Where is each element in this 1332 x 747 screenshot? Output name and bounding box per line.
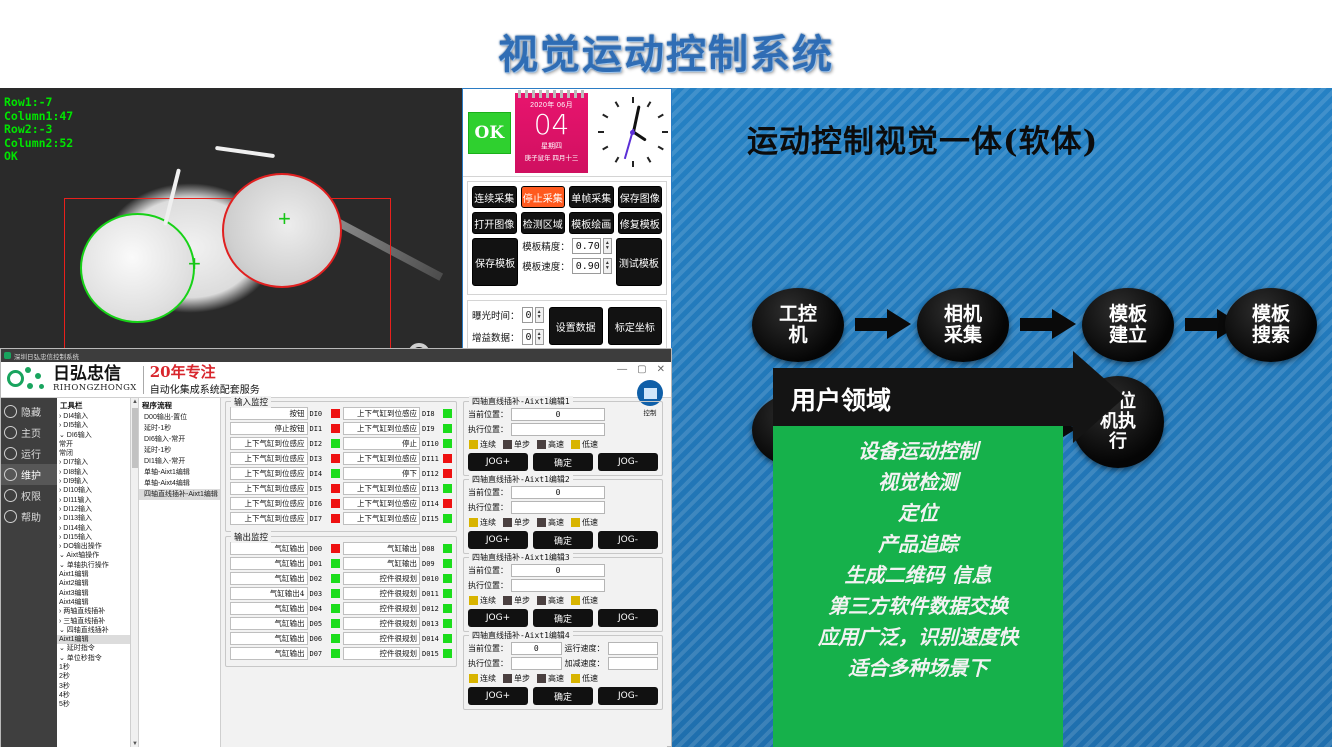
tree-item[interactable]: ⌄ DI6输入 — [57, 431, 138, 440]
io-name-field[interactable]: 上下气缸到位感应 — [343, 512, 421, 525]
tree-item[interactable]: ⌄ 单位秒指令 — [57, 654, 138, 663]
sidebar-item-maintain[interactable]: 维护 — [1, 464, 57, 485]
checkbox-single-step[interactable]: 单步 — [503, 673, 530, 684]
tree-item[interactable]: › DI8输入 — [57, 468, 138, 477]
io-name-field[interactable]: 控件很规划 — [343, 572, 421, 585]
axis-field-row: 当前位置：0运行速度： — [468, 642, 658, 655]
io-id-label: DI1 — [310, 425, 329, 433]
template-params-row: 保存模板 模板精度： 0.70 ▲▼ 模板速度： 0.90 ▲▼ 测试模板 — [472, 238, 662, 286]
axis-panel: 四轴直线插补-Aixt1编辑3当前位置：0执行位置：连续单步高速低速JOG+确定… — [463, 557, 663, 632]
tree-item[interactable]: Aixt4编辑 — [57, 598, 138, 607]
flow-item[interactable]: D00输出-置位 — [139, 412, 220, 423]
stop-capture-button[interactable]: 停止采集 — [521, 186, 566, 208]
axis-field-label: 加减速度： — [565, 658, 605, 669]
single-frame-capture-button[interactable]: 单帧采集 — [569, 186, 614, 208]
checkbox-label: 低速 — [582, 673, 598, 684]
camera-control-panel: OK 2020年 06月 04 星期四 庚子鼠年 四月十三 — [462, 88, 672, 354]
io-id-label: D08 — [422, 545, 441, 553]
template-speed-row: 模板速度： 0.90 ▲▼ — [522, 258, 612, 274]
io-row: 气缸输出D06控件很规划D014 — [230, 632, 452, 645]
axis-field-input[interactable] — [511, 657, 562, 670]
tree-scroll-thumb — [132, 408, 138, 468]
checkbox-continuous[interactable]: 连续 — [469, 517, 496, 528]
axis-jog-buttons: JOG+确定JOG- — [468, 453, 658, 471]
checkbox-continuous[interactable]: 连续 — [469, 595, 496, 606]
io-cell: 停止DI10 — [343, 437, 453, 450]
io-name-field[interactable]: 上下气缸到位感应 — [343, 422, 421, 435]
axis-field-input[interactable] — [511, 423, 605, 436]
io-id-label: DI2 — [310, 440, 329, 448]
permission-icon — [4, 489, 17, 502]
io-status-led — [443, 439, 452, 448]
checkbox-label: 单步 — [514, 673, 530, 684]
user-domain-label: 用户领域 — [791, 381, 891, 417]
flow-node-2-line2: 采集 — [944, 325, 982, 346]
calendar-widget: 2020年 06月 04 星期四 庚子鼠年 四月十三 — [515, 93, 589, 173]
io-status-led — [443, 634, 452, 643]
axis-field-label: 执行位置： — [468, 658, 508, 669]
flow-item[interactable]: 单轴-Aixt4编辑 — [139, 478, 220, 489]
io-status-led — [443, 424, 452, 433]
confirm-button[interactable]: 确定 — [533, 687, 593, 705]
io-name-field[interactable]: 上下气缸到位感应 — [343, 452, 421, 465]
sidebar-item-label: 运行 — [21, 446, 41, 461]
close-icon[interactable]: ✕ — [657, 364, 665, 375]
axis-field-input[interactable] — [608, 657, 659, 670]
axis-field-input[interactable]: 0 — [511, 486, 605, 499]
io-name-field[interactable]: 气缸输出 — [230, 572, 308, 585]
feature-item: 定位 — [773, 498, 1063, 529]
maximize-icon[interactable]: ▢ — [637, 364, 646, 375]
tree-item[interactable]: 1秒 — [57, 663, 138, 672]
io-name-field[interactable]: 控件很规划 — [343, 617, 421, 630]
tree-item[interactable]: › DI12输入 — [57, 505, 138, 514]
io-cell: 气缸输出D05 — [230, 617, 340, 630]
io-id-label: D011 — [422, 590, 441, 598]
sidebar-nav: 隐藏 主页 运行 维护 权限 — [1, 398, 57, 747]
axis-mode-checkboxes: 连续单步高速低速 — [469, 439, 658, 450]
io-name-field[interactable]: 气缸输出 — [230, 617, 308, 630]
toolbox-tree-rows[interactable]: › DI4输入› DI5输入⌄ DI6输入 常开 常闭› DI7输入› DI8输… — [57, 412, 138, 710]
io-name-field[interactable]: 气缸输出4 — [230, 587, 308, 600]
io-row: 上下气缸到位感应DI4停下DI12 — [230, 467, 452, 480]
tree-item[interactable]: › DI11输入 — [57, 496, 138, 505]
io-cell: 上下气缸到位感应DI4 — [230, 467, 340, 480]
io-row: 上下气缸到位感应DI6上下气缸到位感应DI14 — [230, 497, 452, 510]
axis-panel: 四轴直线插补-Aixt1编辑4当前位置：0运行速度：执行位置：加减速度：连续单步… — [463, 635, 663, 710]
io-status-led — [443, 649, 452, 658]
io-status-led — [443, 574, 452, 583]
checkbox-continuous[interactable]: 连续 — [469, 439, 496, 450]
tree-item[interactable]: Aixt2编辑 — [57, 579, 138, 588]
tree-item[interactable]: ⌄ 单轴执行操作 — [57, 561, 138, 570]
program-flow-header: 程序流程 — [139, 398, 220, 412]
io-cell: 上下气缸到位感应DI9 — [343, 422, 453, 435]
io-name-field[interactable]: 上下气缸到位感应 — [230, 437, 308, 450]
io-id-label: D06 — [310, 635, 329, 643]
jog-minus-button[interactable]: JOG- — [598, 609, 658, 627]
io-id-label: D04 — [310, 605, 329, 613]
tree-item[interactable]: › DI15输入 — [57, 533, 138, 542]
io-row: 上下气缸到位感应DI2停止DI10 — [230, 437, 452, 450]
flow-item[interactable]: 单轴-Aixt1编辑 — [139, 467, 220, 478]
io-row: 气缸输出D02控件很规划D010 — [230, 572, 452, 585]
io-name-field[interactable]: 上下气缸到位感应 — [230, 452, 308, 465]
io-status-led — [331, 514, 340, 523]
checkbox-single-step[interactable]: 单步 — [503, 517, 530, 528]
io-status-led — [443, 514, 452, 523]
back-icon — [4, 405, 17, 418]
output-rows: 气缸输出D00气缸输出D08气缸输出D01气缸输出D09气缸输出D02控件很规划… — [230, 542, 452, 660]
tree-item[interactable]: ⌄ Aixt轴操作 — [57, 551, 138, 560]
exposure-row: 曝光时间： 0 ▲▼ — [472, 307, 544, 323]
tree-item[interactable]: 5秒 — [57, 700, 138, 709]
axis-jog-buttons: JOG+确定JOG- — [468, 531, 658, 549]
flow-node-4: 模板搜索 — [1225, 288, 1317, 362]
sidebar-item-help[interactable]: 帮助 — [1, 506, 57, 527]
checkbox-box-icon — [469, 440, 478, 449]
io-name-field[interactable]: 上下气缸到位感应 — [343, 497, 421, 510]
flow-node-3-line2: 建立 — [1109, 325, 1147, 346]
io-cell: 停止按钮DI1 — [230, 422, 340, 435]
sidebar-item-permission[interactable]: 权限 — [1, 485, 57, 506]
checkbox-box-icon — [469, 518, 478, 527]
checkbox-high-speed[interactable]: 高速 — [537, 595, 564, 606]
axis-panel: 四轴直线插补-Aixt1编辑2当前位置：0执行位置：连续单步高速低速JOG+确定… — [463, 479, 663, 554]
presentation-title: 运动控制视觉一体(软体) — [747, 116, 1098, 161]
io-status-led — [331, 559, 340, 568]
io-id-label: D02 — [310, 575, 329, 583]
io-status-led — [443, 589, 452, 598]
axis-field-input[interactable]: 0 — [511, 564, 605, 577]
io-cell: 上下气缸到位感应DI3 — [230, 452, 340, 465]
io-name-field[interactable]: 停下 — [343, 467, 421, 480]
sidebar-item-hide[interactable]: 隐藏 — [1, 401, 57, 422]
io-cell: 气缸输出D09 — [343, 557, 453, 570]
checkbox-box-icon — [571, 440, 580, 449]
io-status-led — [443, 409, 452, 418]
io-status-led — [331, 454, 340, 463]
probe-shape-2 — [215, 146, 275, 158]
tree-item[interactable]: 常闭 — [57, 449, 138, 458]
ok-status-button[interactable]: OK — [468, 112, 511, 154]
exposure-input[interactable]: 0 — [522, 307, 533, 323]
sidebar-item-run[interactable]: 运行 — [1, 443, 57, 464]
flow-item[interactable]: 四轴直线插补-Aixt1编辑 — [139, 489, 220, 500]
jog-plus-button[interactable]: JOG+ — [468, 453, 528, 471]
io-id-label: DI10 — [422, 440, 441, 448]
tree-item[interactable]: Aixt3编辑 — [57, 589, 138, 598]
jog-minus-button[interactable]: JOG- — [598, 531, 658, 549]
io-name-field[interactable]: 上下气缸到位感应 — [343, 482, 421, 495]
axis-mode-checkboxes: 连续单步高速低速 — [469, 517, 658, 528]
scroll-down-icon: ▼ — [132, 741, 138, 747]
checkbox-high-speed[interactable]: 高速 — [537, 517, 564, 528]
io-status-led — [331, 604, 340, 613]
acquisition-buttons-group: 连续采集 停止采集 单帧采集 保存图像 打开图像 检测区域 模板绘画 修复模板 … — [467, 181, 667, 295]
tree-item[interactable]: 常开 — [57, 440, 138, 449]
input-monitor-legend: 输入监控 — [231, 396, 271, 408]
checkbox-low-speed[interactable]: 低速 — [571, 595, 598, 606]
io-id-label: DI0 — [310, 410, 329, 418]
tree-item[interactable]: › DI5输入 — [57, 421, 138, 430]
axis-field-input[interactable] — [511, 501, 605, 514]
repair-template-button[interactable]: 修复模板 — [618, 212, 663, 234]
io-id-label: DI3 — [310, 455, 329, 463]
tree-item[interactable]: Aixt1编辑 — [57, 570, 138, 579]
template-accuracy-stepper[interactable]: ▲▼ — [603, 238, 612, 254]
checkbox-label: 连续 — [480, 517, 496, 528]
io-name-field[interactable]: 上下气缸到位感应 — [230, 482, 308, 495]
axis-field-input[interactable]: 0 — [511, 642, 562, 655]
jog-plus-button[interactable]: JOG+ — [468, 531, 528, 549]
checkbox-continuous[interactable]: 连续 — [469, 673, 496, 684]
jog-minus-button[interactable]: JOG- — [598, 453, 658, 471]
confirm-button[interactable]: 确定 — [533, 609, 593, 627]
checkbox-low-speed[interactable]: 低速 — [571, 439, 598, 450]
app-titlebar: 深圳日弘忠信控制系统 — [1, 349, 671, 362]
io-row: 气缸输出4D03控件很规划D011 — [230, 587, 452, 600]
io-cell: 控件很规划D012 — [343, 602, 453, 615]
axis-field-label: 当前位置： — [468, 487, 508, 498]
gain-label: 增益数据： — [472, 330, 520, 344]
set-data-button[interactable]: 设置数据 — [549, 307, 603, 345]
flow-node-4-line2: 搜索 — [1252, 325, 1290, 346]
tree-item[interactable]: › DI10输入 — [57, 486, 138, 495]
io-status-led — [443, 619, 452, 628]
checkbox-high-speed[interactable]: 高速 — [537, 439, 564, 450]
io-name-field[interactable]: 气缸输出 — [230, 557, 308, 570]
tree-item[interactable]: › DI9输入 — [57, 477, 138, 486]
tree-item[interactable]: › DI7输入 — [57, 458, 138, 467]
io-cell: 控件很规划D010 — [343, 572, 453, 585]
io-name-field[interactable]: 控件很规划 — [343, 647, 421, 660]
flow-node-3-line1: 模板 — [1109, 304, 1147, 325]
tree-scrollbar[interactable]: ▲ ▼ — [130, 398, 138, 747]
jog-minus-button[interactable]: JOG- — [598, 687, 658, 705]
io-name-field[interactable]: 停止 — [343, 437, 421, 450]
calendar-weekday: 星期四 — [515, 141, 589, 151]
checkbox-label: 高速 — [548, 439, 564, 450]
maintain-icon — [4, 468, 17, 481]
checkbox-single-step[interactable]: 单步 — [503, 439, 530, 450]
jog-plus-button[interactable]: JOG+ — [468, 609, 528, 627]
calendar-lunar-date: 庚子鼠年 四月十三 — [515, 152, 589, 162]
feature-list-box: 设备运动控制 视觉检测 定位 产品追踪 生成二维码 信息 第三方软件数据交换 应… — [773, 426, 1063, 747]
feature-item: 产品追踪 — [773, 529, 1063, 560]
checkbox-box-icon — [537, 674, 546, 683]
app-body: 隐藏 主页 运行 维护 权限 — [1, 398, 671, 747]
template-accuracy-input[interactable]: 0.70 — [572, 238, 601, 254]
io-cell: 上下气缸到位感应DI2 — [230, 437, 340, 450]
io-id-label: D014 — [422, 635, 441, 643]
axis-field-row: 执行位置： — [468, 501, 658, 514]
tree-item[interactable]: Aixt1编辑 — [57, 635, 138, 644]
template-speed-label: 模板速度： — [522, 259, 570, 273]
gain-stepper[interactable]: ▲▼ — [535, 329, 544, 345]
calibrate-coordinate-button[interactable]: 标定坐标 — [608, 307, 662, 345]
toolbox-tree[interactable]: 工具栏 › DI4输入› DI5输入⌄ DI6输入 常开 常闭› DI7输入› … — [57, 398, 139, 747]
clock-face — [596, 95, 668, 169]
checkbox-box-icon — [503, 518, 512, 527]
io-status-led — [331, 589, 340, 598]
io-name-field[interactable]: 上下气缸到位感应 — [230, 497, 308, 510]
tree-item[interactable]: 3秒 — [57, 682, 138, 691]
io-name-field[interactable]: 停止按钮 — [230, 422, 308, 435]
jog-plus-button[interactable]: JOG+ — [468, 687, 528, 705]
axis-panel-legend: 四轴直线插补-Aixt1编辑4 — [469, 630, 573, 641]
gain-row: 增益数据： 0 ▲▼ — [472, 329, 544, 345]
sidebar-item-home[interactable]: 主页 — [1, 422, 57, 443]
checkbox-label: 高速 — [548, 595, 564, 606]
io-name-field[interactable]: 控件很规划 — [343, 587, 421, 600]
minimize-icon[interactable]: — — [617, 364, 627, 375]
test-template-button[interactable]: 测试模板 — [616, 238, 662, 286]
tree-item[interactable]: ⌄ 延时指令 — [57, 644, 138, 653]
io-cell: 上下气缸到位感应DI8 — [343, 407, 453, 420]
io-cell: 气缸输出D01 — [230, 557, 340, 570]
flow-node-4-line1: 模板 — [1252, 304, 1290, 325]
program-flow-rows[interactable]: D00输出-置位延时-1秒DI6输入-常开延时-1秒DI1输入-常开单轴-Aix… — [139, 412, 220, 500]
io-name-field[interactable]: 气缸输出 — [230, 632, 308, 645]
io-status-led — [331, 409, 340, 418]
io-name-field[interactable]: 气缸输出 — [230, 647, 308, 660]
save-template-button[interactable]: 保存模板 — [472, 238, 518, 286]
checkbox-box-icon — [571, 596, 580, 605]
io-name-field[interactable]: 按钮 — [230, 407, 308, 420]
checkbox-label: 连续 — [480, 439, 496, 450]
flow-item[interactable]: 延时-1秒 — [139, 423, 220, 434]
io-id-label: DI9 — [422, 425, 441, 433]
io-id-label: D05 — [310, 620, 329, 628]
io-name-field[interactable]: 气缸输出 — [343, 542, 421, 555]
continuous-capture-button[interactable]: 连续采集 — [472, 186, 517, 208]
checkbox-box-icon — [571, 518, 580, 527]
io-id-label: D07 — [310, 650, 329, 658]
control-grid-icon — [644, 388, 657, 399]
axis-field-label: 当前位置： — [468, 565, 508, 576]
banner-arrow-tail — [1073, 351, 1125, 443]
io-row: 气缸输出D00气缸输出D08 — [230, 542, 452, 555]
io-cell: 控件很规划D014 — [343, 632, 453, 645]
template-speed-stepper[interactable]: ▲▼ — [603, 258, 612, 274]
io-name-field[interactable]: 气缸输出 — [230, 602, 308, 615]
io-name-field[interactable]: 气缸输出 — [343, 557, 421, 570]
io-name-field[interactable]: 控件很规划 — [343, 602, 421, 615]
io-status-led — [331, 574, 340, 583]
calendar-day: 04 — [515, 111, 589, 139]
user-domain-banner: 用户领域 — [773, 368, 1073, 426]
io-cell: 上下气缸到位感应DI14 — [343, 497, 453, 510]
flow-item[interactable]: DI1输入-常开 — [139, 456, 220, 467]
checkbox-low-speed[interactable]: 低速 — [571, 673, 598, 684]
flow-node-1-line1: 工控 — [779, 304, 817, 325]
feature-item: 适合多种场景下 — [773, 653, 1063, 684]
axis-panel-legend: 四轴直线插补-Aixt1编辑2 — [469, 474, 573, 485]
tree-item[interactable]: › DO输出操作 — [57, 542, 138, 551]
sidebar-item-label: 隐藏 — [21, 404, 41, 419]
checkbox-box-icon — [537, 440, 546, 449]
tree-item[interactable]: › DI4输入 — [57, 412, 138, 421]
program-flow-list[interactable]: 程序流程 D00输出-置位延时-1秒DI6输入-常开延时-1秒DI1输入-常开单… — [139, 398, 221, 747]
axis-field-row: 当前位置：0 — [468, 408, 658, 421]
tree-item[interactable]: › 三轴直线插补 — [57, 617, 138, 626]
exposure-fields: 曝光时间： 0 ▲▼ 增益数据： 0 ▲▼ — [472, 307, 544, 345]
draw-template-button[interactable]: 模板绘画 — [569, 212, 614, 234]
axis-panels: 四轴直线插补-Aixt1编辑1当前位置：0执行位置：连续单步高速低速JOG+确定… — [463, 401, 663, 710]
checkbox-box-icon — [503, 596, 512, 605]
io-status-led — [331, 484, 340, 493]
io-cell: 气缸输出D04 — [230, 602, 340, 615]
checkbox-high-speed[interactable]: 高速 — [537, 673, 564, 684]
confirm-button[interactable]: 确定 — [533, 531, 593, 549]
tree-item[interactable]: › DI14输入 — [57, 524, 138, 533]
clock-pivot — [630, 130, 635, 135]
detected-circle-green — [80, 213, 195, 323]
io-id-label: DI5 — [310, 485, 329, 493]
tree-item[interactable]: › 两轴直线插补 — [57, 607, 138, 616]
crosshair-marker-2: + — [278, 213, 291, 225]
io-name-field[interactable]: 气缸输出 — [230, 542, 308, 555]
tree-item[interactable]: 2秒 — [57, 672, 138, 681]
gain-input[interactable]: 0 — [522, 329, 533, 345]
io-status-led — [443, 454, 452, 463]
axis-mode-checkboxes: 连续单步高速低速 — [469, 595, 658, 606]
checkbox-label: 连续 — [480, 595, 496, 606]
checkbox-low-speed[interactable]: 低速 — [571, 517, 598, 528]
tree-item[interactable]: 4秒 — [57, 691, 138, 700]
flow-item[interactable]: DI6输入-常开 — [139, 434, 220, 445]
exposure-stepper[interactable]: ▲▼ — [535, 307, 544, 323]
window-controls: — ▢ ✕ — [617, 364, 665, 375]
calendar-rings-icon — [518, 90, 586, 98]
axis-field-label: 执行位置： — [468, 580, 508, 591]
io-cell: 上下气缸到位感应DI13 — [343, 482, 453, 495]
tree-item[interactable]: › DI13输入 — [57, 514, 138, 523]
axis-field-row: 当前位置：0 — [468, 486, 658, 499]
template-speed-input[interactable]: 0.90 — [572, 258, 601, 274]
axis-field-input[interactable] — [511, 579, 605, 592]
confirm-button[interactable]: 确定 — [533, 453, 593, 471]
io-name-field[interactable]: 上下气缸到位感应 — [343, 407, 421, 420]
axis-field-input[interactable] — [608, 642, 659, 655]
acquisition-row-2: 打开图像 检测区域 模板绘画 修复模板 — [472, 212, 662, 234]
save-image-button[interactable]: 保存图像 — [618, 186, 663, 208]
tree-item[interactable]: ⌄ 四轴直线插补 — [57, 626, 138, 635]
io-cell: 气缸输出D08 — [343, 542, 453, 555]
io-name-field[interactable]: 上下气缸到位感应 — [230, 467, 308, 480]
brand-tagline-block: 20年专注 自动化集成系统配套服务 — [150, 364, 260, 396]
axis-panel-legend: 四轴直线插补-Aixt1编辑3 — [469, 552, 573, 563]
flow-item[interactable]: 延时-1秒 — [139, 445, 220, 456]
io-name-field[interactable]: 上下气缸到位感应 — [230, 512, 308, 525]
open-image-button[interactable]: 打开图像 — [472, 212, 517, 234]
io-id-label: DI14 — [422, 500, 441, 508]
axis-field-input[interactable]: 0 — [511, 408, 605, 421]
io-row: 上下气缸到位感应DI5上下气缸到位感应DI13 — [230, 482, 452, 495]
io-cell: 上下气缸到位感应DI6 — [230, 497, 340, 510]
checkbox-single-step[interactable]: 单步 — [503, 595, 530, 606]
io-status-led — [331, 544, 340, 553]
flow-node-2: 相机采集 — [917, 288, 1009, 362]
crosshair-marker-1: + — [188, 258, 201, 270]
checkbox-label: 连续 — [480, 673, 496, 684]
detect-region-button[interactable]: 检测区域 — [521, 212, 566, 234]
io-name-field[interactable]: 控件很规划 — [343, 632, 421, 645]
io-id-label: D013 — [422, 620, 441, 628]
io-monitor-column: 输入监控 按钮DI0上下气缸到位感应DI8停止按钮DI1上下气缸到位感应DI9上… — [221, 398, 461, 747]
flow-node-2-line1: 相机 — [944, 304, 982, 325]
